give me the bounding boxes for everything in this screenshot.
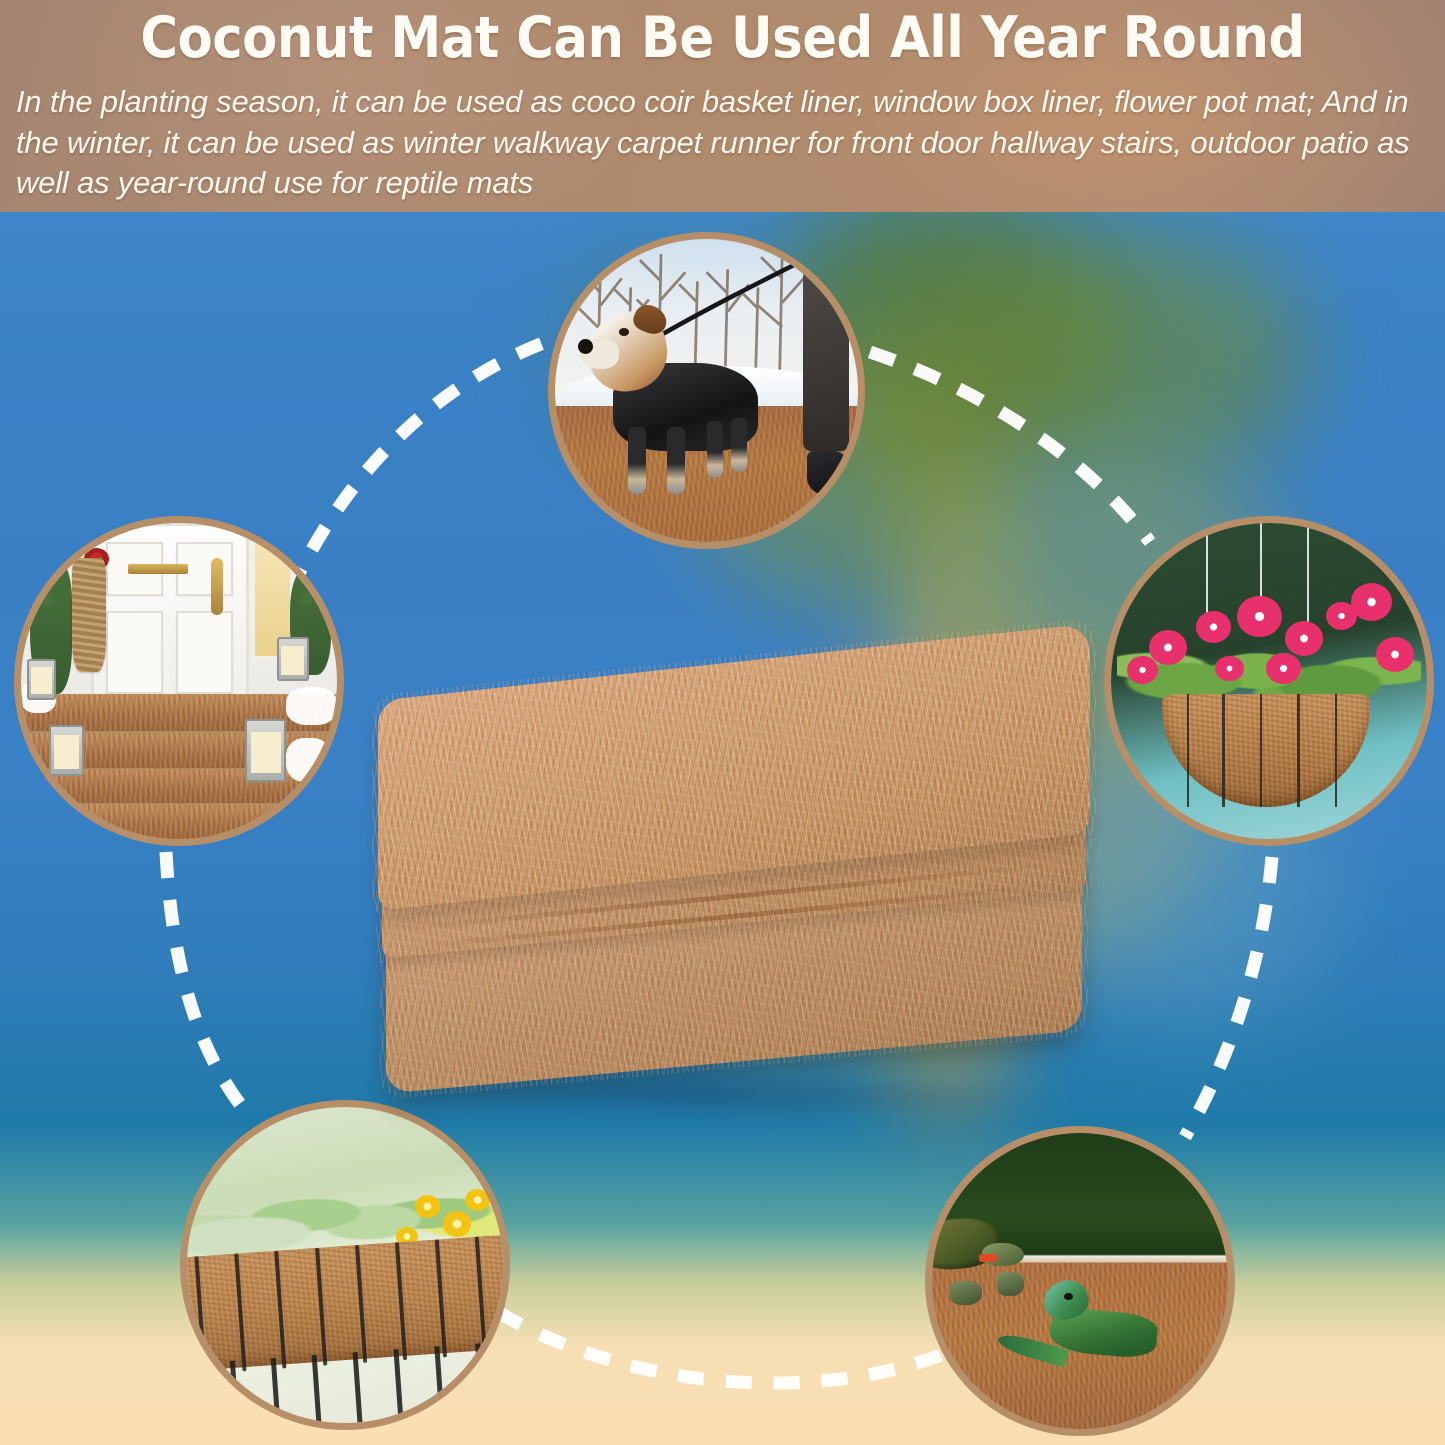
product-coconut-mat-stack[interactable]: [372, 662, 1100, 1092]
dog-photo: [555, 239, 858, 542]
use-case-front-door-stairs[interactable]: [14, 516, 344, 846]
hanging-basket-photo: [1111, 523, 1427, 839]
page-title: Coconut Mat Can Be Used All Year Round: [0, 2, 1445, 74]
lizard-eye: [1064, 1293, 1073, 1300]
pink-flower: [1149, 630, 1187, 665]
dog-leg: [707, 421, 724, 479]
door-panel: [176, 611, 233, 693]
use-case-dog-winter-walkway[interactable]: [548, 232, 865, 549]
pink-flower: [1237, 596, 1281, 637]
lantern-icon: [27, 659, 55, 700]
product-infographic: Coconut Mat Can Be Used All Year Round I…: [0, 0, 1445, 1445]
front-door-photo: [21, 523, 337, 839]
dog-leg: [628, 427, 646, 494]
pink-flower: [1351, 583, 1392, 621]
lantern-icon: [277, 637, 309, 681]
turtle-foot: [997, 1272, 1024, 1296]
dog-leg: [667, 427, 685, 494]
yellow-flower: [415, 1195, 440, 1217]
turtle-foot: [950, 1281, 983, 1305]
reptile-photo: [932, 1133, 1228, 1429]
use-case-hanging-basket-liner[interactable]: [1104, 516, 1434, 846]
page-subtitle: In the planting season, it can be used a…: [16, 82, 1431, 204]
pink-flower: [1285, 621, 1323, 656]
pink-flower: [1215, 656, 1243, 681]
use-case-reptile-mat[interactable]: [925, 1126, 1235, 1436]
pink-flower: [1266, 653, 1301, 685]
mail-slot-icon: [128, 564, 188, 573]
lantern-icon: [245, 719, 286, 782]
palm-frond-blur: [980, 232, 1310, 482]
turtle-red-ear-mark: [979, 1254, 997, 1262]
header-banner: Coconut Mat Can Be Used All Year Round I…: [0, 0, 1445, 212]
sled-decor: [72, 558, 107, 672]
dog-leg: [731, 418, 748, 473]
door-handle-icon[interactable]: [211, 558, 224, 615]
window-box-photo: [187, 1107, 503, 1423]
yellow-flower: [443, 1211, 471, 1236]
use-case-window-box-liner[interactable]: [180, 1100, 510, 1430]
lantern-icon: [49, 725, 84, 776]
door-panel: [106, 611, 163, 693]
pink-flower: [1376, 637, 1414, 672]
dog-nose: [578, 339, 593, 354]
pink-flower: [1196, 611, 1231, 643]
